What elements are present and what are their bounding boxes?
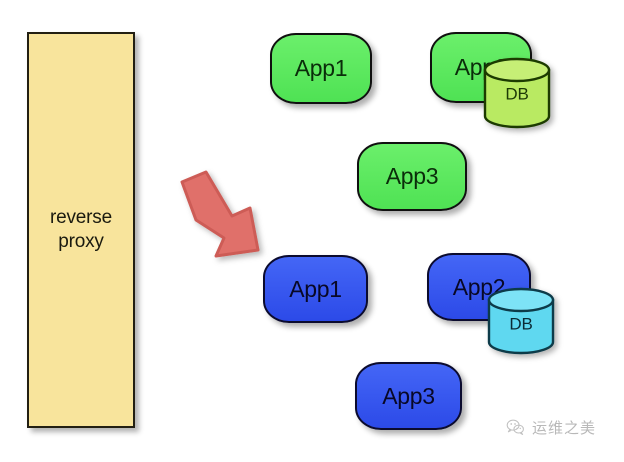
app-label: App3 — [382, 385, 435, 408]
app-box-green-app3[interactable]: App3 — [357, 142, 467, 211]
app-label: App1 — [295, 57, 348, 80]
watermark-text: 运维之美 — [532, 417, 596, 438]
app-box-blue-app1[interactable]: App1 — [263, 255, 368, 323]
app-label: App1 — [289, 278, 342, 301]
reverse-proxy-box[interactable]: reverse proxy — [27, 32, 135, 428]
reverse-proxy-line2: proxy — [50, 230, 112, 254]
app-label: App3 — [386, 165, 439, 188]
diagram-canvas: reverse proxy App1 App2 — [0, 0, 624, 462]
wechat-icon — [506, 418, 525, 437]
reverse-proxy-label: reverse proxy — [50, 206, 112, 254]
app-box-blue-app3[interactable]: App3 — [355, 362, 462, 430]
red-arrow-icon — [172, 168, 268, 256]
reverse-proxy-line1: reverse — [50, 206, 112, 230]
database-cylinder-blue[interactable]: DB — [487, 288, 555, 358]
watermark: 运维之美 — [506, 417, 596, 438]
database-cylinder-green[interactable]: DB — [483, 58, 551, 128]
app-box-green-app1[interactable]: App1 — [270, 33, 372, 104]
